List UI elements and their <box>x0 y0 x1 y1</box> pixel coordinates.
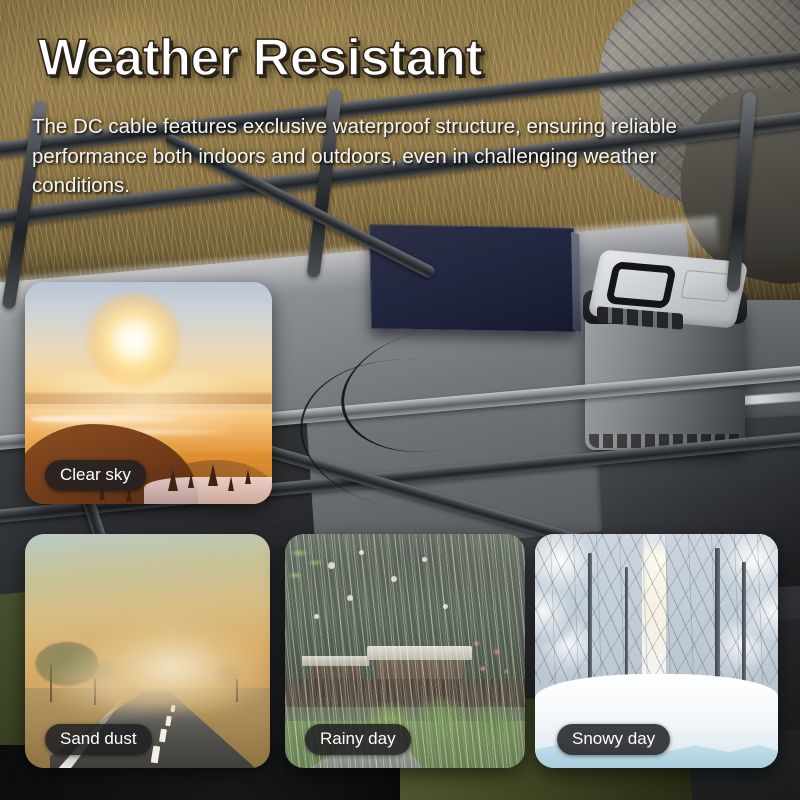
card-label-snowy-day: Snowy day <box>557 724 670 755</box>
raindrop <box>314 614 319 619</box>
weather-card-sand-dust[interactable]: Sand dust <box>25 534 270 768</box>
page-title: Weather Resistant <box>38 32 482 84</box>
power-station-handle <box>605 261 677 309</box>
product-feature-banner: Weather Resistant The DC cable features … <box>0 0 800 800</box>
dust-cloud-main <box>99 614 266 712</box>
card-label-sand-dust: Sand dust <box>45 724 152 755</box>
pine-tree <box>188 473 194 488</box>
weather-card-snowy-day[interactable]: Snowy day <box>535 534 778 768</box>
weather-card-clear-sky[interactable]: Clear sky <box>25 282 272 504</box>
card-label-clear-sky: Clear sky <box>45 460 146 491</box>
tree-trunk <box>588 553 592 684</box>
pine-tree <box>245 469 251 484</box>
solar-panel <box>369 224 576 333</box>
description-text: The DC cable features exclusive waterpro… <box>32 112 732 201</box>
pine-tree <box>168 469 178 491</box>
tree-trunk <box>625 567 628 679</box>
sun <box>86 292 182 388</box>
pine-tree <box>208 464 218 486</box>
power-station-panel-plate <box>680 270 733 302</box>
weather-card-rainy-day[interactable]: Rainy day <box>285 534 525 768</box>
pine-tree <box>228 476 234 491</box>
card-label-rainy-day: Rainy day <box>305 724 411 755</box>
raindrop <box>391 576 397 582</box>
